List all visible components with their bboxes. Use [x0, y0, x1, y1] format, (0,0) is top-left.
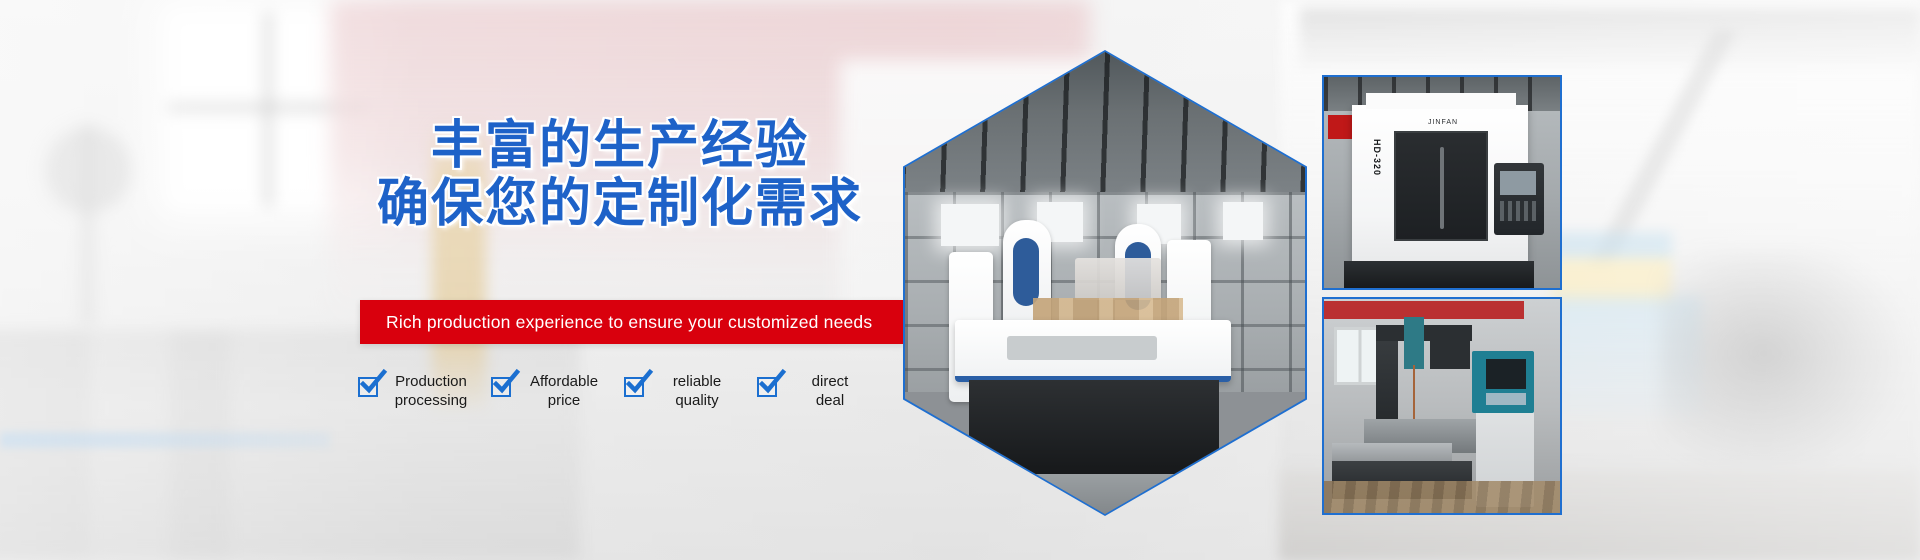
thumbnail-2-wooden-pallet — [1324, 481, 1560, 513]
checkbox-checked-icon — [491, 377, 511, 397]
feature-label-line-2: deal — [816, 392, 844, 409]
thumbnail-1-panel-screen — [1500, 171, 1536, 195]
subtitle-red-strip: Rich production experience to ensure you… — [360, 300, 905, 344]
thumbnail-1-control-panel — [1494, 163, 1544, 235]
thumbnail-edm-machine[interactable] — [1322, 297, 1562, 515]
thumbnail-2-console-screen — [1486, 359, 1526, 389]
thumbnail-machining-center[interactable]: JINFAN HD-320 — [1322, 75, 1562, 290]
machine-base — [969, 380, 1219, 476]
feature-label-line-1: reliable — [673, 373, 721, 390]
machine-bed — [955, 320, 1231, 382]
hero-image-photo — [905, 52, 1305, 514]
factory-window — [1223, 202, 1263, 240]
factory-scene — [905, 52, 1305, 514]
feature-item-affordable-price[interactable]: Affordable price — [491, 372, 624, 410]
feature-label-line-2: processing — [395, 392, 468, 409]
feature-label: reliable quality — [653, 372, 741, 410]
checkbox-checked-icon — [624, 377, 644, 397]
headline-line-1: 丰富的生产经验 — [431, 118, 809, 175]
checkbox-checked-icon — [757, 377, 777, 397]
feature-list: Production processing Affordable price — [358, 372, 918, 410]
feature-item-production-processing[interactable]: Production processing — [358, 372, 491, 410]
checkbox-checked-icon — [358, 377, 378, 397]
promo-banner: 丰富的生产经验 确保您的定制化需求 Rich production experi… — [0, 0, 1920, 560]
headline: 丰富的生产经验 确保您的定制化需求 — [340, 118, 900, 234]
subtitle-text: Rich production experience to ensure you… — [360, 312, 872, 333]
thumbnail-1-machine-top — [1366, 93, 1516, 109]
thumbnail-1-brand-label: JINFAN — [1408, 119, 1478, 126]
thumbnail-2-left-column — [1376, 329, 1398, 433]
thumbnail-1-panel-keys — [1500, 201, 1536, 221]
thumbnail-1-model-label: HD-320 — [1368, 139, 1382, 213]
thumbnail-2-cutting-head — [1404, 317, 1424, 369]
thumbnail-2-cabinet-console — [1472, 351, 1534, 413]
feature-label: direct deal — [786, 372, 874, 410]
feature-label-line-2: price — [548, 392, 581, 409]
feature-label-line-2: quality — [675, 392, 718, 409]
factory-floor — [905, 474, 1305, 514]
hero-image-hexagon[interactable] — [903, 50, 1307, 516]
thumbnail-2-gantry-beam — [1376, 325, 1472, 341]
thumbnail-1-machine-body: JINFAN HD-320 — [1352, 105, 1528, 263]
thumbnail-2-red-sign — [1324, 301, 1524, 319]
feature-item-direct-deal[interactable]: direct deal — [757, 372, 890, 410]
thumbnail-1-machine-plinth — [1344, 261, 1534, 289]
feature-label-line-1: Production — [395, 373, 467, 390]
headline-line-2: 确保您的定制化需求 — [340, 176, 900, 234]
feature-label-line-1: direct — [812, 373, 849, 390]
feature-label-line-1: Affordable — [530, 373, 598, 390]
feature-label: Production processing — [387, 372, 475, 410]
thumbnail-1-enclosure-door — [1394, 131, 1488, 241]
factory-roof — [905, 52, 1305, 202]
feature-item-reliable-quality[interactable]: reliable quality — [624, 372, 757, 410]
factory-window — [941, 204, 999, 246]
thumbnail-2-console-buttons — [1486, 393, 1526, 405]
feature-label: Affordable price — [520, 372, 608, 410]
machine-pallet — [1075, 258, 1161, 300]
